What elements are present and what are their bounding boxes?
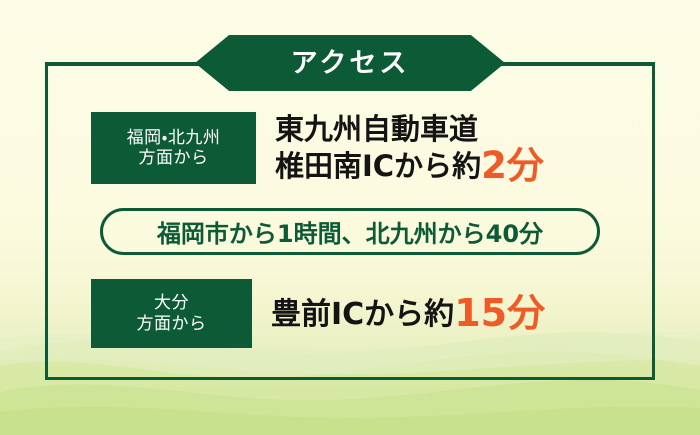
route-detail-duration-line: 豊前ICから約15分 xyxy=(271,294,545,334)
travel-time-note-pill: 福岡市から1時間、北九州から40分 xyxy=(100,208,600,255)
route-origin-tag-fukuoka: 福岡・北九州 方面から xyxy=(91,112,256,184)
route-detail-duration-line: 椎田南ICから約2分 xyxy=(275,147,544,184)
route-detail-prefix: 豊前ICから約 xyxy=(271,297,454,332)
access-infographic: アクセス 福岡・北九州 方面から 東九州自動車道 椎田南ICから約2分 福岡市か… xyxy=(0,0,700,435)
route-detail-prefix: 椎田南ICから約 xyxy=(275,149,481,183)
banner-rule-left xyxy=(45,62,210,65)
route-origin-line2: 方面から xyxy=(137,314,207,334)
route-row-oita: 大分 方面から 豊前ICから約15分 xyxy=(91,279,545,348)
banner-ribbon: アクセス xyxy=(195,35,505,91)
route-origin-line2: 方面から xyxy=(139,148,209,168)
route-detail-highway: 東九州自動車道 xyxy=(275,112,544,147)
route-detail-fukuoka: 東九州自動車道 椎田南ICから約2分 xyxy=(275,112,544,185)
route-detail-oita: 豊前ICから約15分 xyxy=(271,294,545,334)
route-duration-value: 2分 xyxy=(481,144,544,187)
route-origin-tag-oita: 大分 方面から xyxy=(91,279,252,348)
route-origin-line1: 福岡・北九州 xyxy=(127,128,221,148)
route-row-fukuoka: 福岡・北九州 方面から 東九州自動車道 椎田南ICから約2分 xyxy=(91,112,544,185)
travel-time-note-text: 福岡市から1時間、北九州から40分 xyxy=(157,214,543,249)
banner-container: アクセス xyxy=(45,35,655,91)
route-duration-value: 15分 xyxy=(454,291,545,335)
page-title: アクセス xyxy=(291,50,410,77)
route-origin-line1: 大分 xyxy=(154,293,189,313)
banner-rule-right xyxy=(490,62,655,65)
